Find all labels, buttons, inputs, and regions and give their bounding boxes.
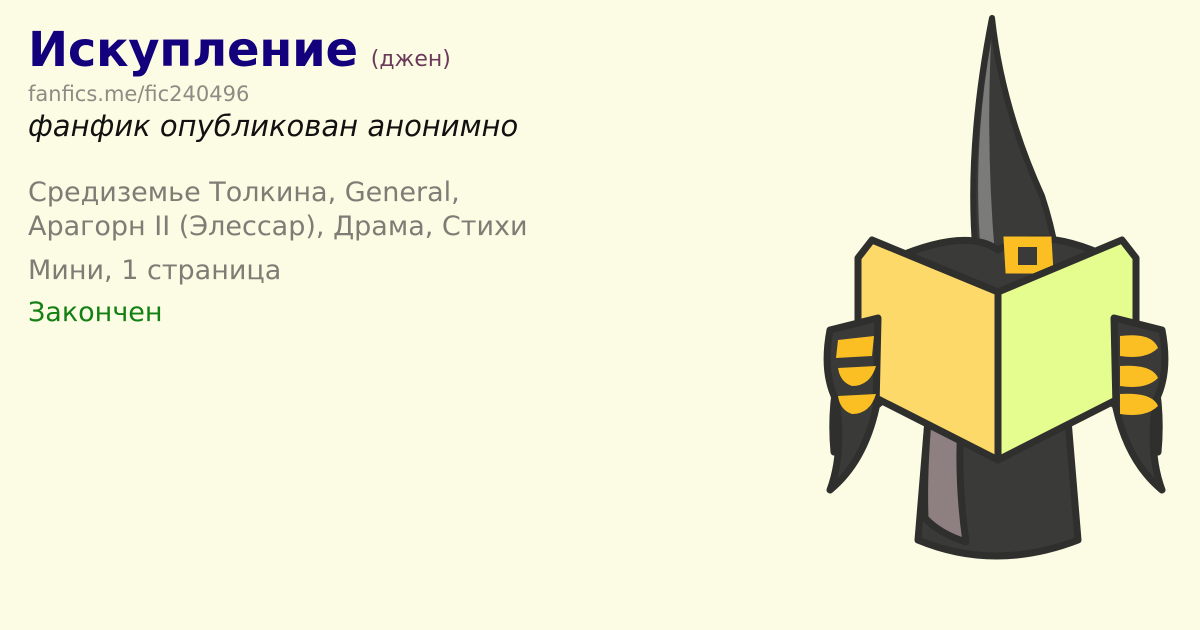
hat-buckle-hole <box>1018 247 1037 265</box>
fanfic-text-column: Искупление (джен) fanfics.me/fic240496 ф… <box>0 0 790 630</box>
metadata-block: Средиземье Толкина, General, Арагорн II … <box>28 176 528 331</box>
title-row: Искупление (джен) <box>28 26 451 74</box>
illustration-column <box>790 0 1200 630</box>
page-title: Искупление <box>28 26 358 74</box>
status-badge: Закончен <box>28 296 163 331</box>
wizard-reading-book-icon <box>790 0 1200 630</box>
tags-line: Арагорн II (Элессар), Драма, Стихи <box>28 210 528 245</box>
fanfic-url[interactable]: fanfics.me/fic240496 <box>28 83 249 105</box>
fandom-line: Средиземье Толкина, General, <box>28 176 460 211</box>
size-line: Мини, 1 страница <box>28 254 281 289</box>
author-byline: фанфик опубликован анонимно <box>28 110 518 142</box>
pairing-label: (джен) <box>371 49 451 71</box>
fanfic-preview-card: Искупление (джен) fanfics.me/fic240496 ф… <box>0 0 1200 630</box>
